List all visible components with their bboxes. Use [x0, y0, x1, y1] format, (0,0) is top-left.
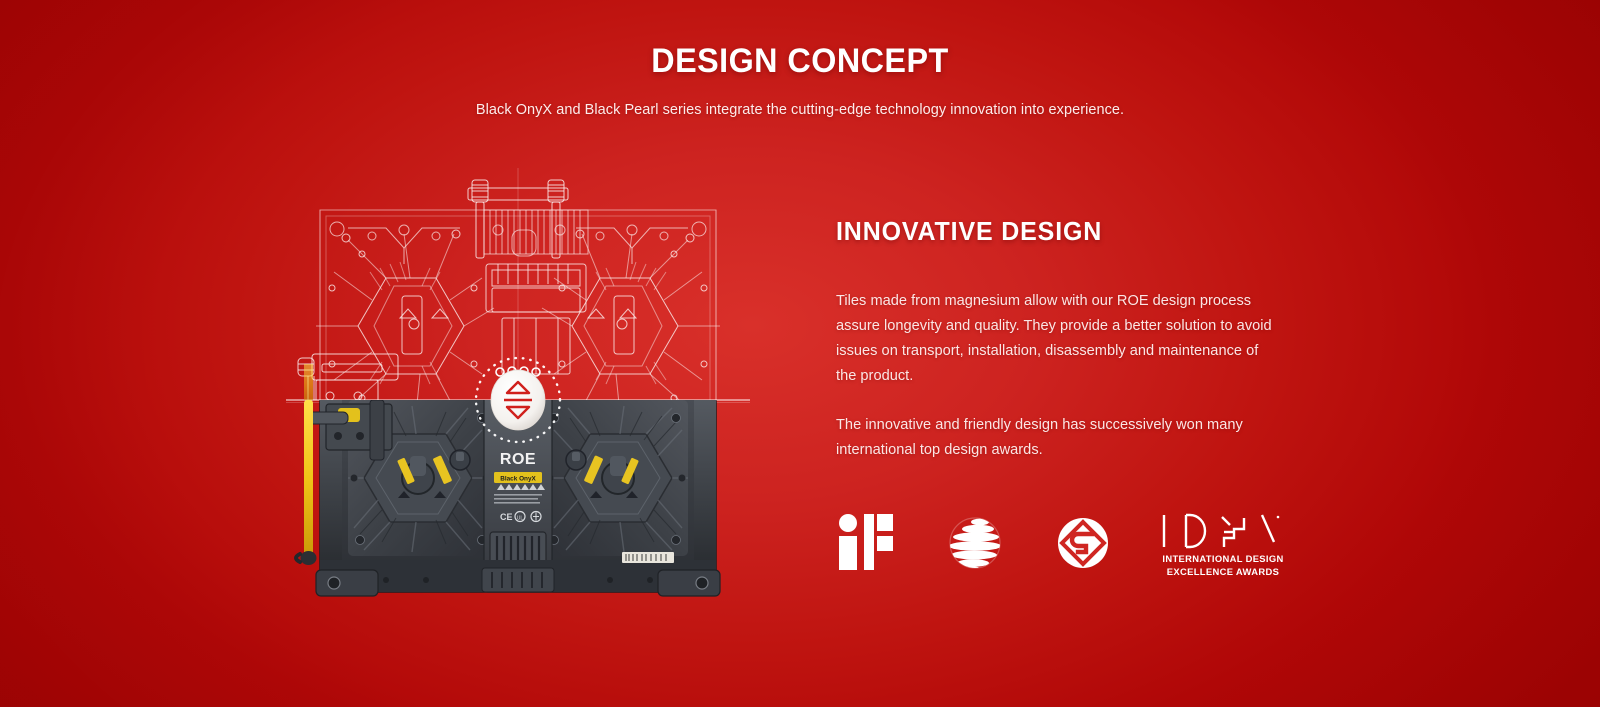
svg-text:CE: CE [500, 512, 513, 522]
svg-text:UL: UL [517, 516, 524, 522]
if-logo-icon [836, 512, 896, 570]
sphere-logo-icon [944, 512, 1006, 572]
right-tile-plate [540, 400, 688, 556]
idea-award-logo: INTERNATIONAL DESIGN EXCELLENCE AWARDS [1158, 512, 1288, 582]
page-subtitle: Black OnyX and Black Pearl series integr… [0, 102, 1600, 118]
design-concept-slide: ROE Black OnyX [0, 0, 1600, 707]
idea-logo-icon [1158, 512, 1282, 550]
body-paragraph-1: Tiles made from magnesium allow with our… [836, 289, 1276, 389]
idea-wordmark-line-2: EXCELLENCE AWARDS [1158, 566, 1288, 579]
if-design-award-logo [836, 512, 896, 582]
yellow-cable-upper [304, 364, 313, 404]
good-design-award-logo [1052, 512, 1114, 582]
content-column: INNOVATIVE DESIGN Tiles made from magnes… [836, 218, 1306, 463]
awards-strip: INTERNATIONAL DESIGN EXCELLENCE AWARDS [836, 512, 1306, 582]
product-series-label: Black OnyX [500, 476, 536, 483]
idea-wordmark-line-1: INTERNATIONAL DESIGN [1158, 553, 1288, 566]
yellow-cable [304, 400, 313, 558]
product-brand-label: ROE [500, 451, 536, 468]
product-figure: ROE Black OnyX [286, 168, 750, 626]
body-paragraph-2: The innovative and friendly design has s… [836, 413, 1268, 463]
section-heading: INNOVATIVE DESIGN [836, 218, 1287, 244]
idea-wordmark: INTERNATIONAL DESIGN EXCELLENCE AWARDS [1158, 553, 1288, 578]
page-title: DESIGN CONCEPT [40, 44, 1560, 78]
header: DESIGN CONCEPT Black OnyX and Black Pear… [0, 44, 1600, 118]
g-mark-logo-icon [1052, 512, 1114, 572]
red-dot-award-logo [944, 512, 1006, 582]
